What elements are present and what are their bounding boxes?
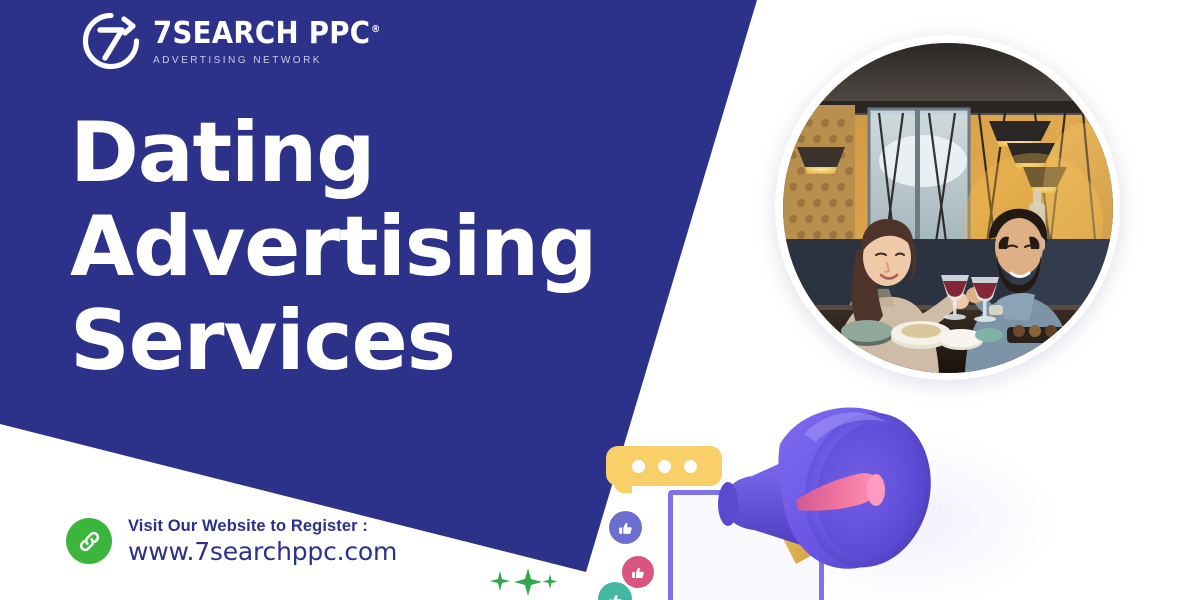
promo-banner: 7SEARCH PPC® ADVERTISING NETWORK Dating … [0,0,1200,600]
thumbs-up-icon [609,511,642,544]
link-chain-icon [66,518,112,564]
headline-line-2: Advertising [70,200,596,294]
thumbs-up-icon [598,582,632,600]
cta-url[interactable]: www.7searchppc.com [128,537,397,567]
cta-label: Visit Our Website to Register : [128,516,397,537]
sparkle-icon [488,566,558,596]
brand-name: 7SEARCH PPC® [153,19,381,49]
registered-mark: ® [371,24,380,35]
thumbs-up-icon [622,556,654,588]
headline-line-3: Services [70,294,596,388]
brand-tagline: ADVERTISING NETWORK [153,54,391,66]
typing-dot [684,460,697,473]
typing-dot [632,460,645,473]
website-cta[interactable]: Visit Our Website to Register : www.7sea… [66,516,397,567]
typing-dot [658,460,671,473]
brand-logo[interactable]: 7SEARCH PPC® ADVERTISING NETWORK [80,10,400,72]
hero-photo-frame [775,35,1120,380]
megaphone-icon [700,404,970,600]
headline-line-1: Dating [70,106,596,200]
circular-arrow-seven-icon [80,10,142,72]
page-title: Dating Advertising Services [70,106,596,387]
hero-photo [783,43,1113,373]
